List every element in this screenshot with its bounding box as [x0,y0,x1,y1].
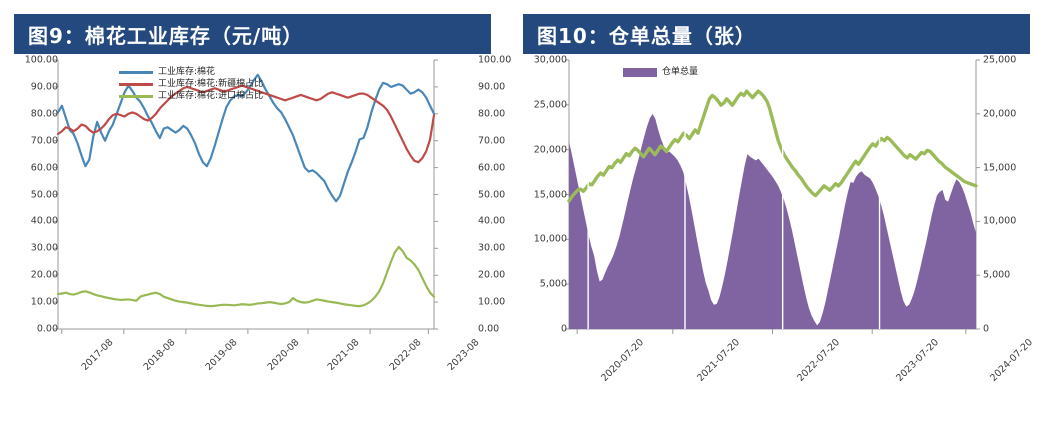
fig10-plot [523,54,1028,339]
y-tick-label: 5,000 [540,279,567,290]
y-tick-label: 60.00 [31,162,58,173]
fig10-legend-label-0: 仓单总量 [662,66,698,78]
panel-fig10: 图10：仓单总量（张） 05,00010,00015,00020,00025,0… [505,0,1045,433]
line-2 [58,247,434,306]
y2-tick-label: 5,000 [983,270,1010,281]
y-tick-label: 0.00 [37,324,58,335]
y-tick-label: 80.00 [31,108,58,119]
x-tick-label: 2021-08 [326,337,362,373]
fig9-legend-item-2: 工业库存:棉花:进口棉占比 [119,90,263,102]
fig9-legend-item-1: 工业库存:棉花:新疆棉占比 [119,78,263,90]
fig10-chart: 05,00010,00015,00020,00025,00030,000 05,… [523,54,1035,339]
fig10-y-axis-left: 05,00010,00015,00020,00025,00030,000 [523,60,567,329]
y-tick-label: 40.00 [31,216,58,227]
legend-swatch-xinjiang-share [119,83,153,86]
y2-tick-label: 60.00 [478,162,505,173]
y-tick-label: 0 [561,324,567,335]
y-tick-label: 30.00 [31,243,58,254]
x-tick-label: 2022-08 [388,337,424,373]
legend-swatch-import-share [119,95,153,98]
y-tick-label: 100.00 [25,55,58,66]
fig10-legend-item-0: 仓单总量 [623,66,698,78]
x-tick-label: 2020-08 [266,337,302,373]
fig9-title-bar: 图9：棉花工业库存（元/吨） [14,14,491,54]
x-tick-label: 2019-08 [203,337,239,373]
y2-tick-label: 80.00 [478,108,505,119]
x-tick-label: 2022-07-20 [795,337,842,384]
fig9-legend-item-0: 工业库存:棉花 [119,66,263,78]
fig9-legend: 工业库存:棉花 工业库存:棉花:新疆棉占比 工业库存:棉花:进口棉占比 [119,66,263,102]
y2-tick-label: 10.00 [478,297,505,308]
y2-tick-label: 50.00 [478,189,505,200]
y2-tick-label: 30.00 [478,243,505,254]
y2-tick-label: 20,000 [983,108,1016,119]
fig9-chart: 0.0010.0020.0030.0040.0050.0060.0070.008… [14,54,495,339]
y-tick-label: 50.00 [31,189,58,200]
x-tick-label: 2021-07-20 [695,337,742,384]
y2-tick-label: 25,000 [983,55,1016,66]
fig10-x-axis: 2020-07-202021-07-202022-07-202023-07-20… [523,337,1028,417]
y-tick-label: 90.00 [31,81,58,92]
area-0 [569,114,976,329]
fig10-title: 图10：仓单总量（张） [537,20,756,49]
y-tick-label: 25,000 [534,99,567,110]
y-tick-label: 10.00 [31,297,58,308]
y-tick-label: 10,000 [534,234,567,245]
fig10-legend: 仓单总量 [623,66,698,78]
x-tick-label: 2018-08 [141,337,177,373]
fig9-x-axis: 2017-082018-082019-082020-082021-082022-… [14,337,484,417]
legend-swatch-warehouse-receipts [623,68,657,77]
y2-tick-label: 10,000 [983,216,1016,227]
x-tick-label: 2024-07-20 [988,337,1035,384]
y-tick-label: 20.00 [31,270,58,281]
y2-tick-label: 70.00 [478,135,505,146]
x-tick-label: 2020-07-20 [599,337,646,384]
legend-swatch-industrial-stock [119,71,153,74]
x-tick-label: 2017-08 [79,337,115,373]
x-tick-label: 2023-08 [446,337,482,373]
fig9-legend-label-1: 工业库存:棉花:新疆棉占比 [158,78,263,90]
y2-tick-label: 15,000 [983,162,1016,173]
y2-tick-label: 0 [983,324,989,335]
fig9-legend-label-0: 工业库存:棉花 [158,66,215,78]
y-tick-label: 70.00 [31,135,58,146]
x-tick-label: 2023-07-20 [894,337,941,384]
y2-tick-label: 90.00 [478,81,505,92]
fig9-y-axis-left: 0.0010.0020.0030.0040.0050.0060.0070.008… [14,60,58,329]
y-tick-label: 30,000 [534,55,567,66]
y-tick-label: 20,000 [534,144,567,155]
y2-tick-label: 40.00 [478,216,505,227]
fig10-title-bar: 图10：仓单总量（张） [523,14,1030,54]
fig9-title: 图9：棉花工业库存（元/吨） [28,20,303,49]
panel-fig9: 图9：棉花工业库存（元/吨） 0.0010.0020.0030.0040.005… [0,0,505,433]
y-tick-label: 15,000 [534,189,567,200]
y2-tick-label: 20.00 [478,270,505,281]
fig10-y-axis-right: 05,00010,00015,00020,00025,000 [983,60,1033,329]
figures-board: 图9：棉花工业库存（元/吨） 0.0010.0020.0030.0040.005… [0,0,1045,433]
fig9-legend-label-2: 工业库存:棉花:进口棉占比 [158,90,263,102]
y2-tick-label: 0.00 [478,324,499,335]
